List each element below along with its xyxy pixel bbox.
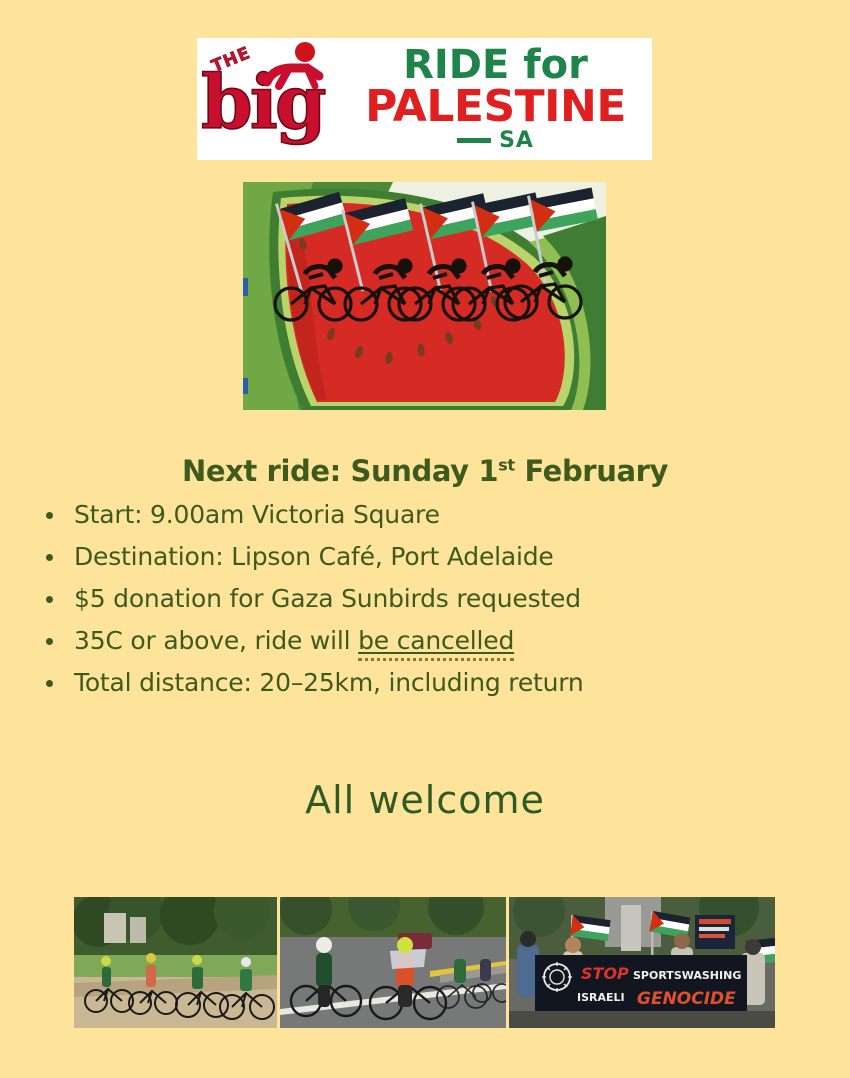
logo-sa-text: SA [347, 130, 644, 152]
ride-details-list: Start: 9.00am Victoria Square Destinatio… [40, 500, 830, 710]
bullet-icon [46, 554, 53, 561]
list-item-label: 35C or above, ride will [74, 626, 358, 655]
heading-suffix: February [515, 454, 668, 488]
list-item: Destination: Lipson Café, Port Adelaide [40, 542, 830, 572]
logo-dash [457, 138, 491, 143]
list-item-label: $5 donation for Gaza Sunbirds requested [74, 584, 581, 613]
bullet-icon [46, 596, 53, 603]
cancelled-emphasis: be cancelled [358, 626, 514, 661]
photo-protest-banner: STOP SPORTSWASHING ISRAELI GENOCIDE [509, 897, 775, 1028]
hero-watermelon-flags-image [243, 182, 606, 410]
logo-banner: THE big RIDE for PALESTINE SA [197, 38, 652, 160]
logo-sa-label: SA [499, 128, 534, 153]
cyclist-icon [249, 42, 339, 108]
logo-mark: THE big [197, 38, 347, 160]
list-item: 35C or above, ride will be cancelled [40, 626, 830, 656]
logo-palestine-text: PALESTINE [347, 85, 644, 128]
bullet-icon [46, 680, 53, 687]
photo-cyclists-park-image [74, 897, 277, 1028]
list-item-label: Destination: Lipson Café, Port Adelaide [74, 542, 554, 571]
banner-sportswashing-text: SPORTSWASHING [633, 969, 741, 982]
banner-stop-text: STOP [581, 964, 629, 983]
heading-ordinal: st [498, 455, 515, 474]
banner-genocide-text: GENOCIDE [637, 989, 736, 1009]
list-item-label: Start: 9.00am Victoria Square [74, 500, 440, 529]
hero-illustration [243, 182, 606, 410]
heading-prefix: Next ride: Sunday 1 [182, 454, 498, 488]
logo-ride-for-text: RIDE for [347, 46, 644, 85]
bullet-icon [46, 638, 53, 645]
page-title: Next ride: Sunday 1st February [0, 454, 850, 488]
photo-cyclists-park [74, 897, 277, 1028]
list-item: Start: 9.00am Victoria Square [40, 500, 830, 530]
photo-cyclists-road-image [280, 897, 506, 1028]
poster-canvas: THE big RIDE for PALESTINE SA [0, 0, 850, 1078]
all-welcome-text: All welcome [0, 778, 850, 822]
logo-wordmark: RIDE for PALESTINE SA [347, 46, 652, 152]
banner-israeli-text: ISRAELI [577, 991, 625, 1004]
list-item-label: Total distance: 20–25km, including retur… [74, 668, 584, 697]
photo-strip: STOP SPORTSWASHING ISRAELI GENOCIDE [74, 897, 775, 1028]
photo-cyclists-road [280, 897, 506, 1028]
list-item: $5 donation for Gaza Sunbirds requested [40, 584, 830, 614]
photo-protest-banner-image: STOP SPORTSWASHING ISRAELI GENOCIDE [509, 897, 775, 1028]
list-item: Total distance: 20–25km, including retur… [40, 668, 830, 698]
bullet-icon [46, 512, 53, 519]
